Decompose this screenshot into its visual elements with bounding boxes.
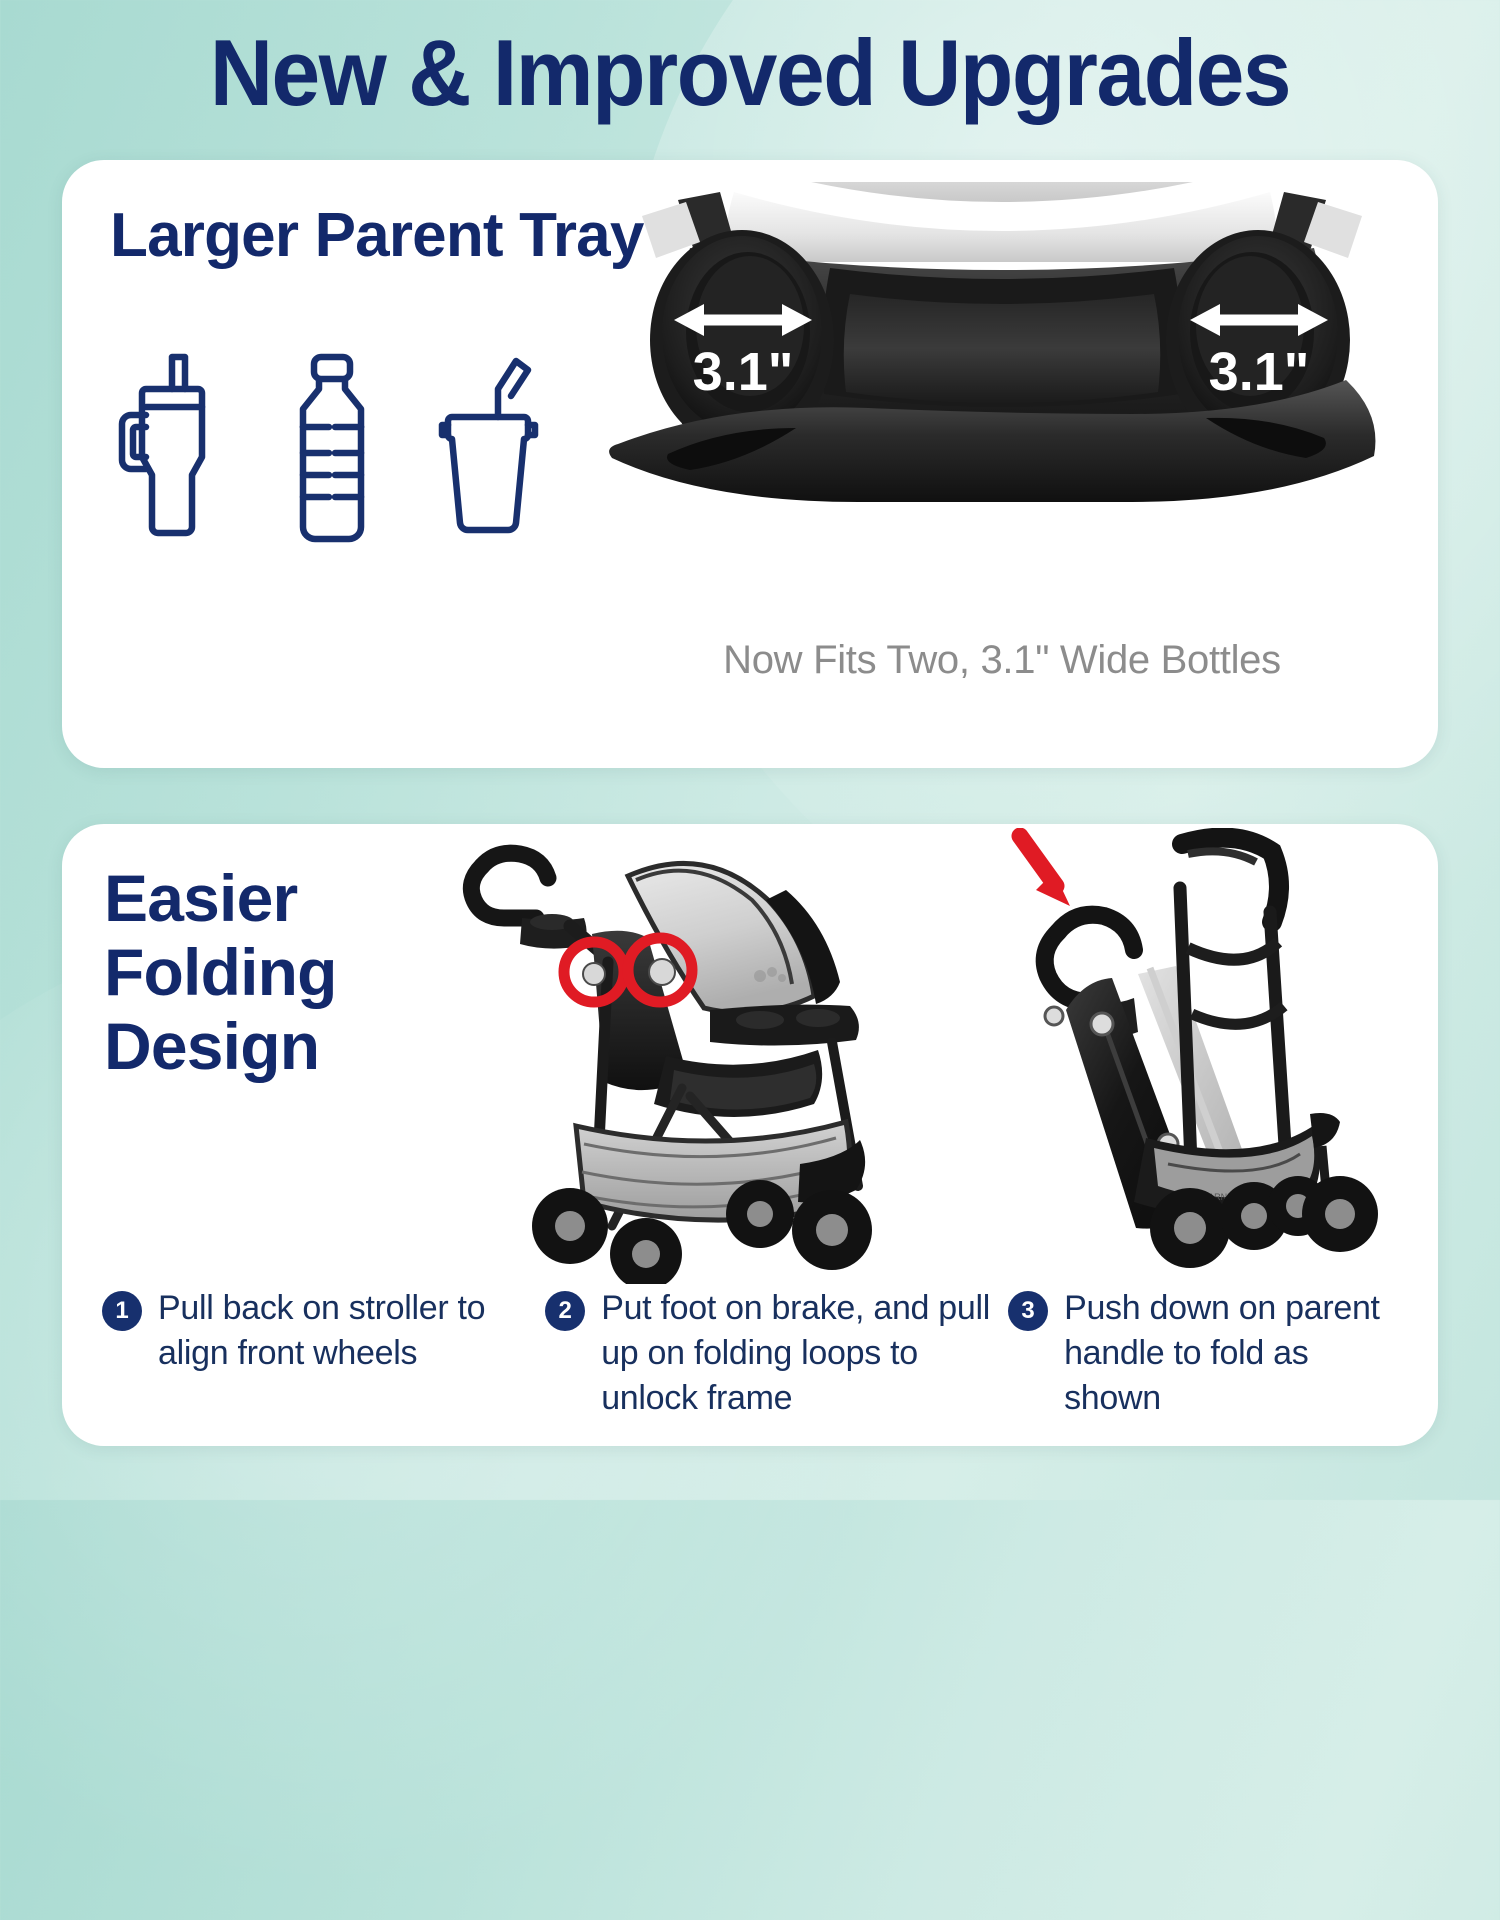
- parent-handle-arrow: [1020, 836, 1070, 906]
- stroller-folded-photo: WARNING: [992, 828, 1412, 1284]
- folding-heading-line-1: Easier: [104, 862, 434, 936]
- parent-tray-photo: 3.1" 3.1": [582, 182, 1422, 652]
- water-bottle-icon: [283, 341, 381, 558]
- folding-heading-line-2: Folding: [104, 936, 434, 1010]
- drink-icons-row: [112, 308, 542, 558]
- step-3-text: Push down on parent handle to fold as sh…: [1064, 1286, 1402, 1421]
- folding-heading-line-3: Design: [104, 1010, 434, 1084]
- folding-heading: Easier Folding Design: [104, 862, 434, 1084]
- fountain-cup-icon: [434, 341, 542, 558]
- step-1-text: Pull back on stroller to align front whe…: [158, 1286, 545, 1376]
- step-1-badge: 1: [102, 1291, 142, 1331]
- folding-step-2: 2 Put foot on brake, and pull up on fold…: [545, 1286, 1008, 1421]
- step-2-text: Put foot on brake, and pull up on foldin…: [601, 1286, 1008, 1421]
- folding-step-3: 3 Push down on parent handle to fold as …: [1008, 1286, 1402, 1421]
- left-cupholder-measurement-text: 3.1": [693, 342, 794, 402]
- step-3-badge: 3: [1008, 1291, 1048, 1331]
- stroller-upright-photo: [460, 834, 940, 1284]
- folding-step-1: 1 Pull back on stroller to align front w…: [102, 1286, 545, 1421]
- card-larger-parent-tray: Larger Parent Tray: [62, 160, 1438, 768]
- tumbler-icon: [112, 341, 230, 558]
- page-title: New & Improved Upgrades: [53, 22, 1448, 124]
- tray-heading: Larger Parent Tray: [110, 202, 644, 270]
- card-easier-folding-design: Easier Folding Design: [62, 824, 1438, 1446]
- folding-steps: 1 Pull back on stroller to align front w…: [102, 1286, 1402, 1421]
- step-2-badge: 2: [545, 1291, 585, 1331]
- tray-caption: Now Fits Two, 3.1" Wide Bottles: [582, 638, 1422, 683]
- right-cupholder-measurement-text: 3.1": [1209, 342, 1310, 402]
